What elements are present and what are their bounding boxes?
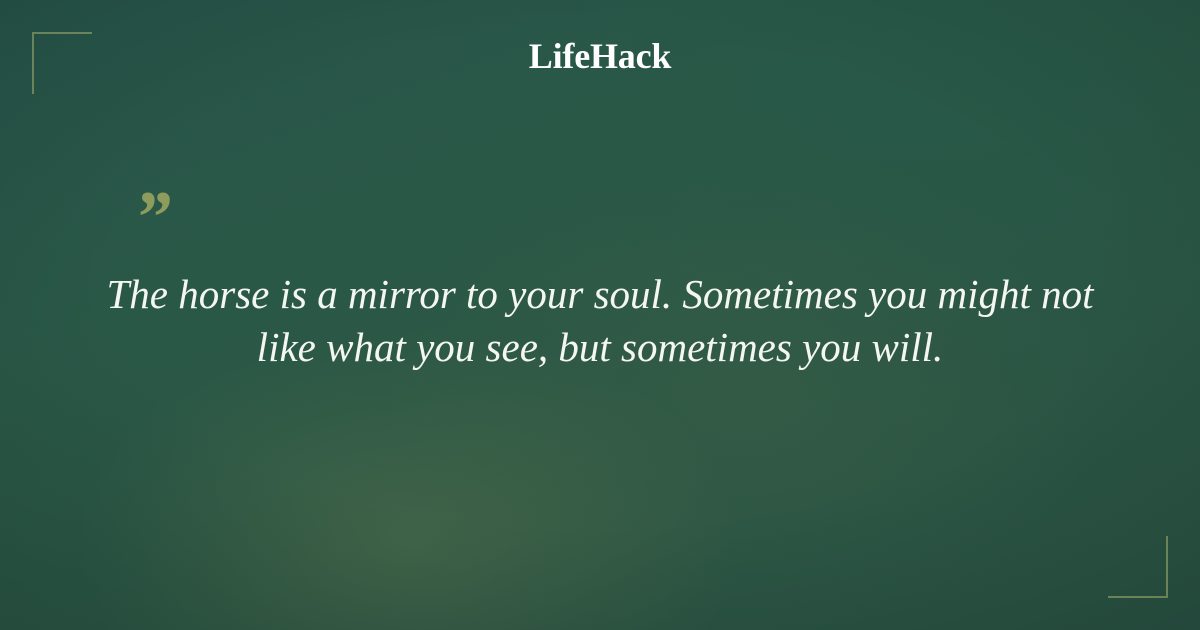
quote-text: The horse is a mirror to your soul. Some… — [90, 268, 1110, 375]
brand-logo-text: LifeHack — [529, 38, 671, 74]
quote-card: LifeHack ” The horse is a mirror to your… — [0, 0, 1200, 630]
quotation-mark-icon: ” — [90, 196, 1110, 242]
corner-bracket-bottom-right-icon — [1108, 536, 1168, 598]
brand-header: LifeHack — [0, 38, 1200, 74]
quote-block: ” The horse is a mirror to your soul. So… — [90, 196, 1110, 375]
